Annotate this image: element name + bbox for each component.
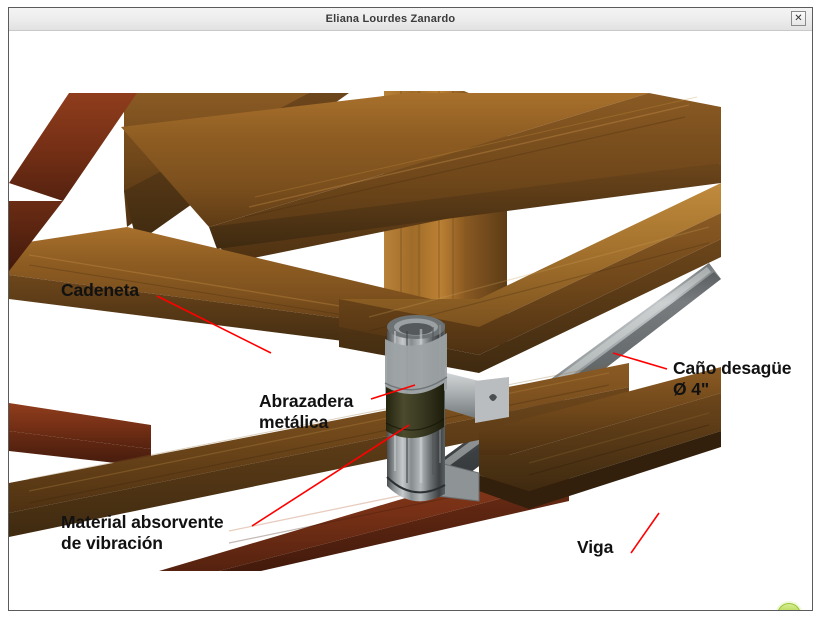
content-canvas: Cadeneta Abrazadera metálica Material ab…	[9, 31, 812, 610]
callout-label-cadeneta: Cadeneta	[61, 280, 139, 301]
close-icon[interactable]: ✕	[791, 11, 806, 26]
callout-label-cano: Caño desagüe Ø 4"	[673, 358, 791, 399]
vertical-drain-pipe	[385, 315, 447, 501]
next-button[interactable]	[774, 600, 804, 610]
application-window: Eliana Lourdes Zanardo ✕	[8, 7, 813, 611]
callout-label-material: Material absorvente de vibración	[61, 512, 223, 553]
window-titlebar: Eliana Lourdes Zanardo ✕	[9, 8, 812, 31]
window-title: Eliana Lourdes Zanardo	[9, 8, 812, 30]
illustration-image	[9, 31, 721, 571]
screenshot-root: Eliana Lourdes Zanardo ✕	[0, 0, 823, 633]
callout-label-abrazadera: Abrazadera metálica	[259, 391, 353, 432]
joist-lower-left-red	[9, 403, 151, 467]
callout-label-viga: Viga	[577, 537, 613, 558]
arrow-right-icon	[774, 600, 804, 610]
